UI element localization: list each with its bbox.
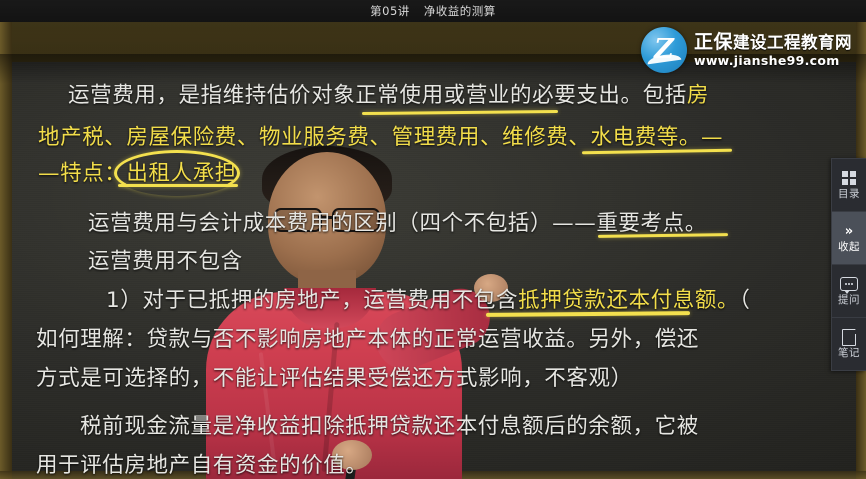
occlusion-upper: [232, 196, 428, 316]
brand-logo: Z 正保建设工程教育网 www.jianshe99.com: [641, 24, 852, 76]
lecture-number: 第05讲: [370, 4, 410, 18]
sidebar-item-notes[interactable]: 笔记: [832, 318, 866, 370]
chevron-double-right-icon: »: [845, 223, 853, 239]
note-icon: [842, 329, 856, 345]
sidebar-item-catalog[interactable]: 目录: [832, 159, 866, 212]
logo-url-text: www.jianshe99.com: [694, 53, 852, 69]
video-player: 第05讲净收益的测算 Z 正保建设工程教育网 www.jianshe99.com…: [0, 0, 866, 479]
logo-brand-text: 正保建设工程教育网: [694, 32, 852, 53]
sidebar-item-notes-label: 笔记: [838, 348, 860, 359]
sidebar-item-collapse[interactable]: » 收起: [832, 212, 866, 265]
sidebar-item-catalog-label: 目录: [838, 189, 860, 200]
logo-mark-icon: Z: [641, 27, 687, 73]
sidebar-item-collapse-label: 收起: [838, 242, 860, 253]
video-stage[interactable]: Z 正保建设工程教育网 www.jianshe99.com 运营费用，是指维持估…: [0, 10, 866, 479]
lecture-title-bar: 第05讲净收益的测算: [0, 0, 866, 22]
player-side-toolbar[interactable]: 目录 » 收起 提问 笔记: [831, 158, 866, 371]
sidebar-item-ask[interactable]: 提问: [832, 265, 866, 318]
lecturer-hand-raised: [474, 274, 508, 302]
lecture-title: 净收益的测算: [424, 4, 496, 18]
sidebar-item-ask-label: 提问: [838, 295, 860, 306]
speech-bubble-icon: [840, 276, 858, 292]
lecturer-hand-lower: [332, 440, 372, 470]
grid-icon: [842, 170, 856, 186]
